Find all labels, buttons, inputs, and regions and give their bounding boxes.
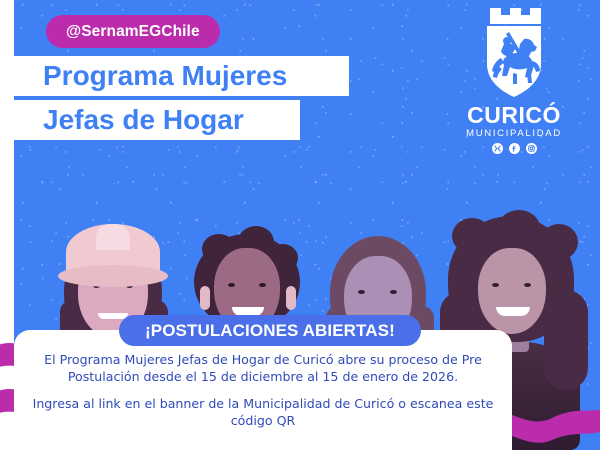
poster-canvas: @SernamEGChile Programa Mujeres Jefas de…: [0, 0, 600, 450]
social-handle-badge[interactable]: @SernamEGChile: [46, 15, 220, 48]
logo-subtitle: MUNICIPALIDAD: [466, 128, 562, 139]
headline-band-line2: Jefas de Hogar: [0, 100, 300, 140]
headline-line1: Programa Mujeres: [43, 60, 287, 92]
headline-band-line1: Programa Mujeres: [0, 56, 349, 96]
logo-social-row: [492, 143, 537, 154]
headline-line2: Jefas de Hogar: [43, 104, 244, 136]
info-text-block: El Programa Mujeres Jefas de Hogar de Cu…: [14, 352, 512, 429]
instagram-icon[interactable]: [526, 143, 537, 154]
municipality-logo: CURICÓ MUNICIPALIDAD: [462, 6, 566, 154]
facebook-icon[interactable]: [509, 143, 520, 154]
logo-name: CURICÓ: [467, 104, 561, 127]
twitter-icon[interactable]: [492, 143, 503, 154]
info-paragraph-1: El Programa Mujeres Jefas de Hogar de Cu…: [14, 352, 512, 385]
headline-divider: [14, 96, 349, 100]
shield-knight-on-horse-icon: [477, 6, 551, 102]
info-paragraph-2: Ingresa al link en el banner de la Munic…: [14, 396, 512, 429]
social-handle-label: @SernamEGChile: [66, 23, 200, 41]
applications-open-label: ¡POSTULACIONES ABIERTAS!: [145, 321, 395, 341]
applications-open-badge: ¡POSTULACIONES ABIERTAS!: [119, 315, 421, 346]
